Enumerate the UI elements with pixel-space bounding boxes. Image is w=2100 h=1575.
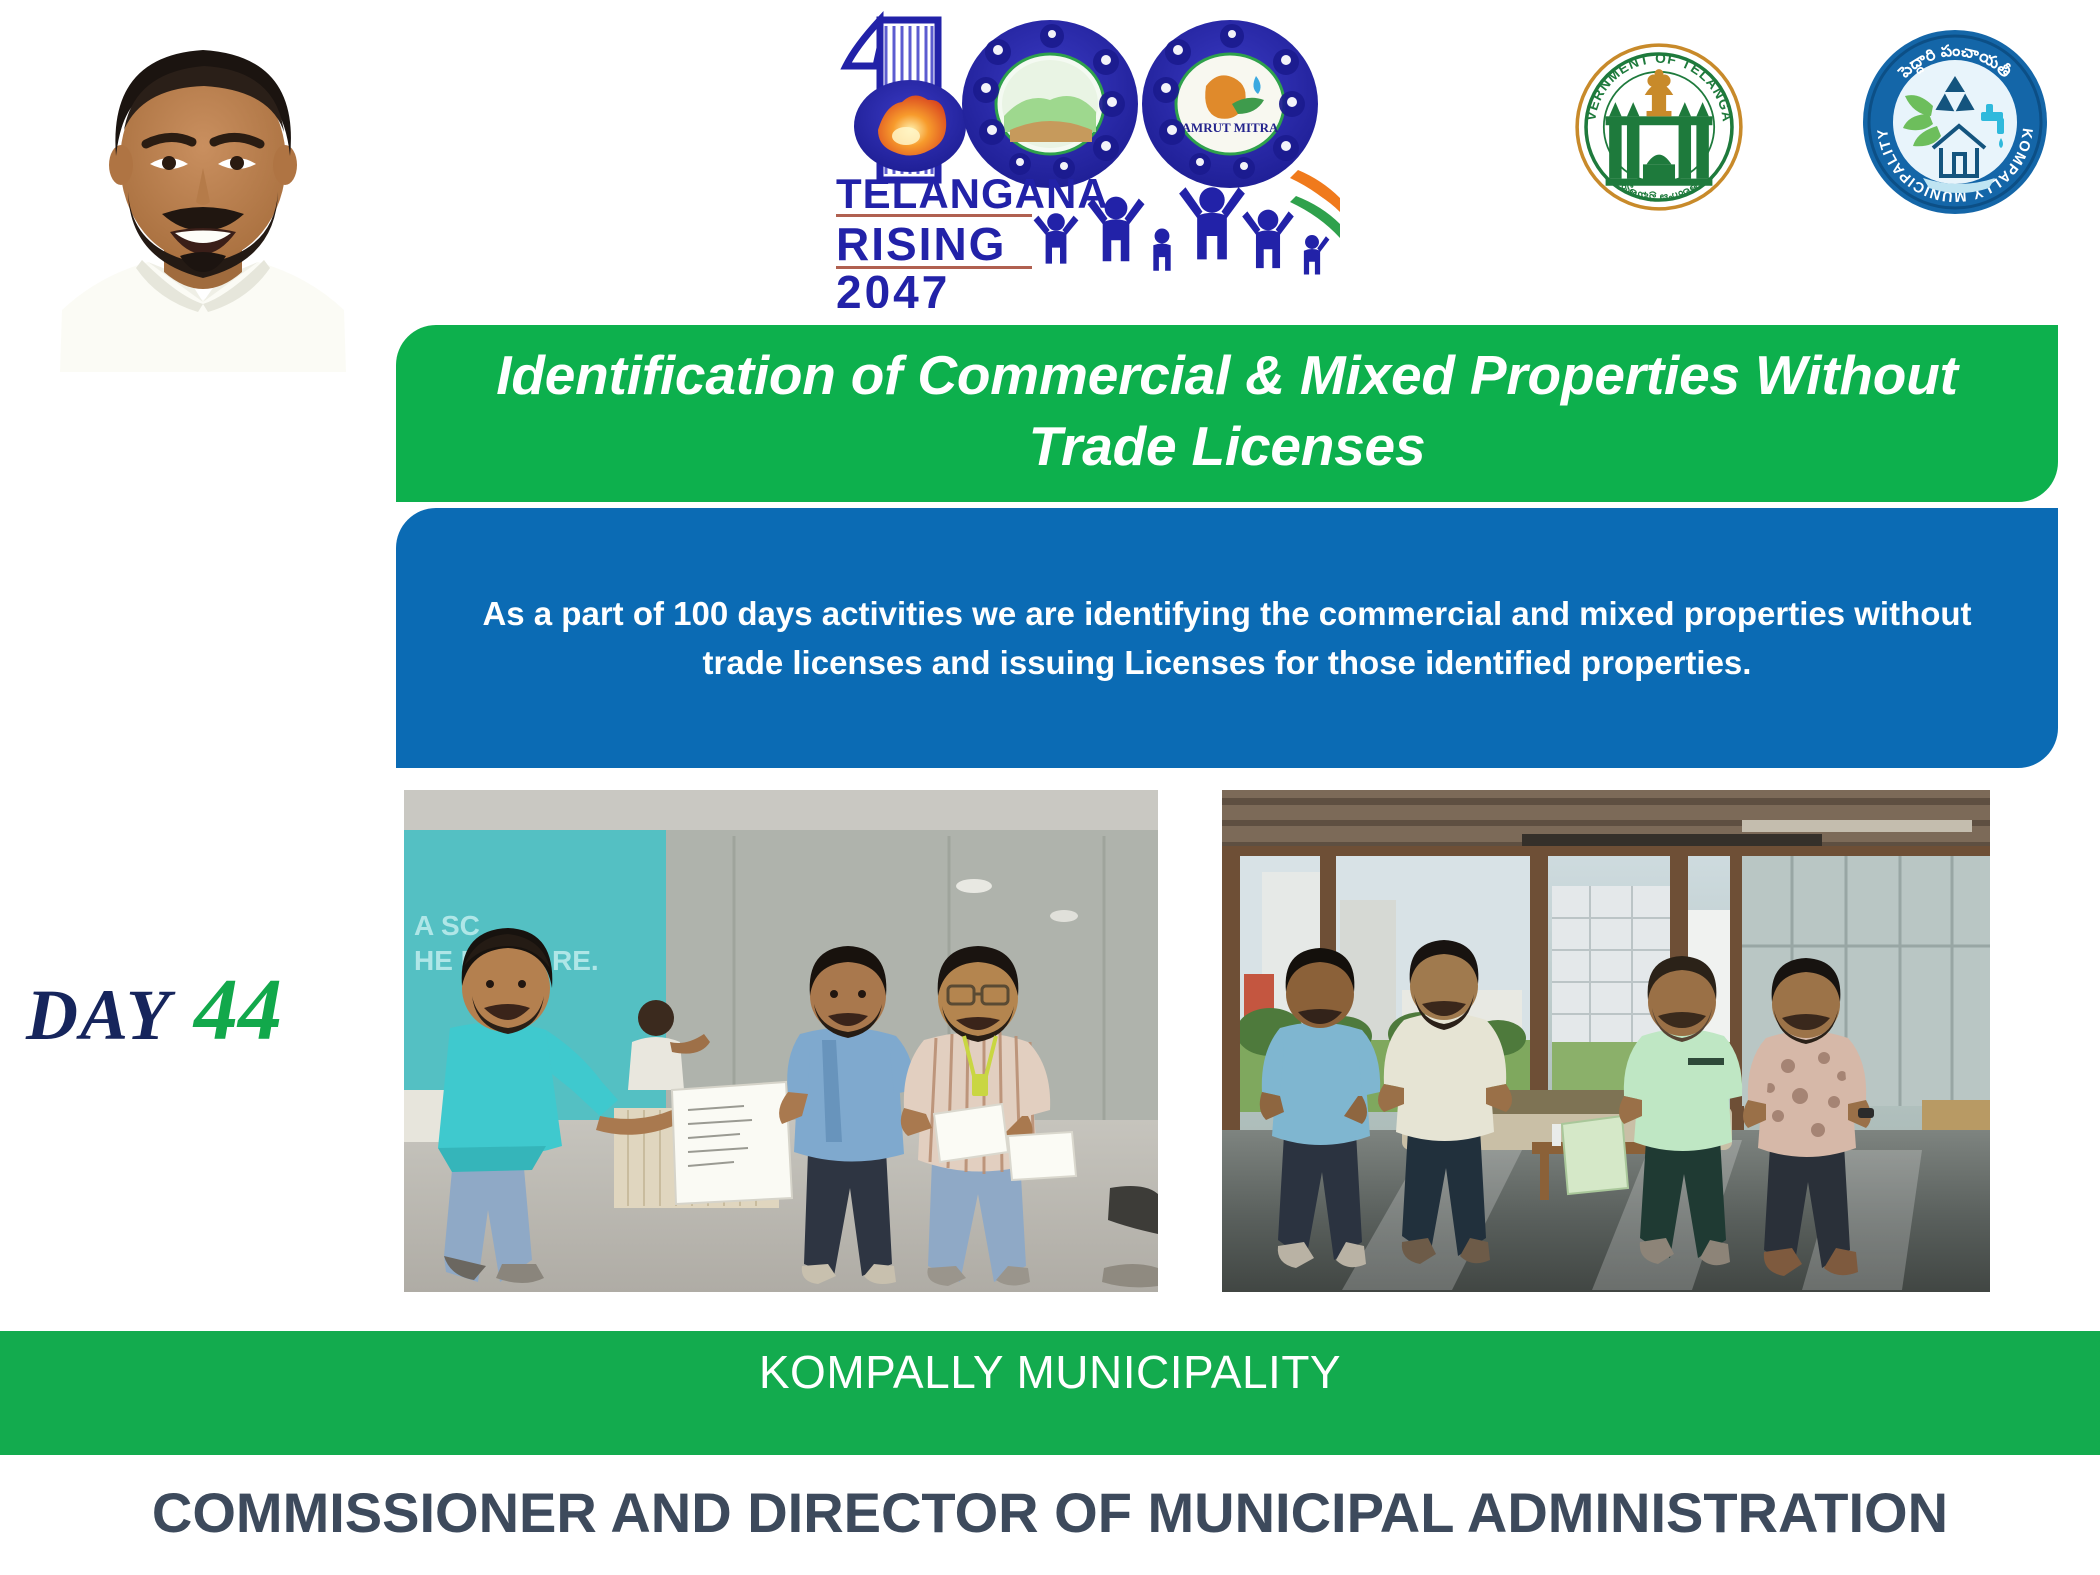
- day-number: 44: [194, 960, 282, 1061]
- footer-department-caption: COMMISSIONER AND DIRECTOR OF MUNICIPAL A…: [0, 1480, 2100, 1545]
- logo-line-2047: 2047: [836, 266, 950, 308]
- day-word: DAY: [26, 974, 172, 1057]
- description-text: As a part of 100 days activities we are …: [458, 589, 1996, 688]
- footer-band: KOMPALLY MUNICIPALITY: [0, 1331, 2100, 1455]
- photo-license-handover-hall: [1222, 790, 1990, 1292]
- svg-text:A SC: A SC: [414, 910, 480, 941]
- description-box: As a part of 100 days activities we are …: [396, 508, 2058, 768]
- bottom-caption: COMMISSIONER AND DIRECTOR OF MUNICIPAL A…: [0, 1480, 2100, 1545]
- title-banner: Identification of Commercial & Mixed Pro…: [396, 325, 2058, 502]
- amrut-mitra-badge-label: AMRUT MITRA: [1182, 120, 1280, 135]
- government-of-telangana-emblem: GOVERNMENT OF TELANGANA తెలంగాణ ప్రభుత్వ…: [1570, 38, 1748, 216]
- chief-minister-portrait: [38, 10, 368, 372]
- footer-municipality-name: KOMPALLY MUNICIPALITY: [759, 1345, 1341, 1399]
- kompally-municipality-emblem: పెద్దారి పంచాయతీ KOMPALLY MUNICIPALITY: [1855, 22, 2055, 222]
- logo-line-rising: RISING: [836, 218, 1006, 270]
- logo-line-telangana: TELANGANA: [836, 170, 1109, 217]
- indian-tricolour-ribbon: [1290, 170, 1340, 238]
- svg-text:RE.: RE.: [552, 945, 599, 976]
- page-title: Identification of Commercial & Mixed Pro…: [430, 340, 2024, 481]
- photo-license-handover-office: A SC HE F RE.: [404, 790, 1158, 1292]
- day-counter: DAY 44: [26, 960, 386, 1070]
- telangana-rising-100-logo: AMRUT MITRA TELANGANA RISING 2047: [820, 8, 1340, 308]
